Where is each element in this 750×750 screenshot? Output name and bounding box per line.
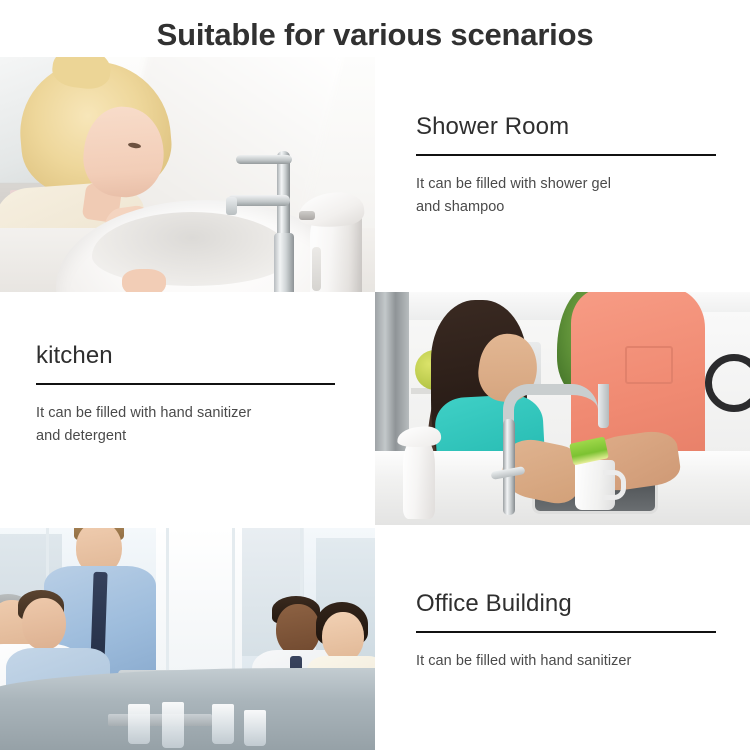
faucet-arc	[503, 384, 598, 429]
text-office-building: Office Building It can be filled with ha…	[375, 528, 750, 750]
soap-dispenser	[397, 417, 441, 517]
water-glass	[128, 704, 150, 744]
office-photo	[0, 528, 375, 750]
heading-rule	[36, 383, 335, 385]
scenario-heading: Office Building	[416, 590, 716, 618]
seated-colleague-head	[22, 598, 66, 650]
faucet-base	[274, 233, 294, 292]
text-shower-room: Shower Room It can be filled with shower…	[375, 57, 750, 292]
photo-kitchen	[375, 292, 750, 525]
laptop-base	[108, 714, 212, 726]
heading-rule	[416, 154, 716, 156]
dispenser-head	[396, 425, 442, 449]
scenario-row-office-building: Office Building It can be filled with ha…	[0, 528, 750, 750]
photo-office-building	[0, 528, 375, 750]
faucet-handle	[236, 155, 292, 164]
infographic-page: Suitable for various scenarios	[0, 0, 750, 750]
scenario-row-kitchen: kitchen It can be filled with hand sanit…	[0, 292, 750, 525]
scenario-description: It can be filled with shower gel and sha…	[416, 173, 716, 220]
girl-hands	[122, 269, 166, 292]
dispenser-body	[403, 437, 435, 519]
faucet-spout	[228, 195, 290, 206]
text-kitchen: kitchen It can be filled with hand sanit…	[0, 292, 375, 525]
description-line: and detergent	[36, 425, 335, 448]
description-line: It can be filled with hand sanitizer	[416, 650, 716, 673]
page-title: Suitable for various scenarios	[0, 17, 750, 53]
scenario-heading: kitchen	[36, 342, 335, 370]
kitchen-photo	[375, 292, 750, 525]
seated-woman-head	[322, 612, 364, 662]
window-mullion	[166, 528, 169, 678]
heading-rule	[416, 631, 716, 633]
scenario-heading: Shower Room	[416, 113, 716, 141]
scenario-description: It can be filled with hand sanitizer and…	[36, 402, 335, 449]
water-glass	[244, 710, 266, 746]
water-glass	[212, 704, 234, 744]
soap-dispenser	[296, 185, 368, 292]
shirt-pocket	[625, 346, 673, 384]
seated-man-right-head	[276, 604, 320, 656]
description-line: It can be filled with shower gel	[416, 173, 716, 196]
white-mug	[575, 460, 615, 510]
scenario-description: It can be filled with hand sanitizer	[416, 650, 716, 673]
window-mullion	[232, 528, 235, 678]
description-line: It can be filled with hand sanitizer	[36, 402, 335, 425]
scenario-row-shower-room: Shower Room It can be filled with shower…	[0, 57, 750, 292]
photo-shower-room	[0, 57, 375, 292]
dispenser-level-window	[312, 247, 321, 291]
water-glass	[162, 702, 184, 748]
bathroom-photo	[0, 57, 375, 292]
description-line: and shampoo	[416, 196, 716, 219]
dispenser-nozzle	[299, 211, 315, 220]
conference-table	[0, 668, 375, 750]
